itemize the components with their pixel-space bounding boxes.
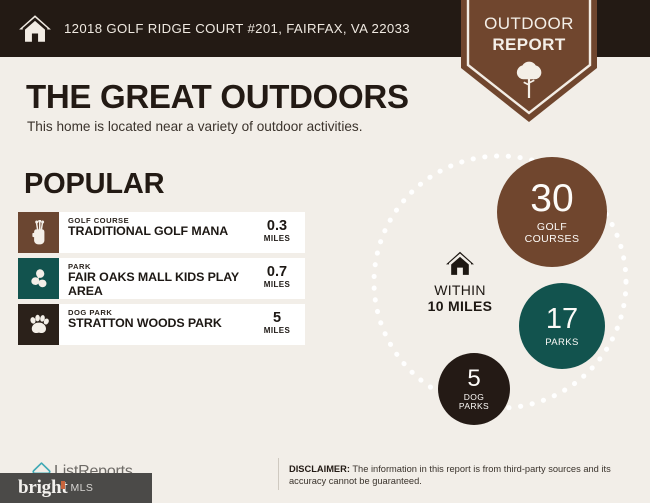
- list-item[interactable]: GOLF COURSE TRADITIONAL GOLF MANA 0.3 MI…: [18, 212, 305, 253]
- stat-label-line2: PARKS: [459, 402, 489, 412]
- stat-label-line1: PARKS: [545, 337, 579, 348]
- outdoor-report-badge: OUTDOOR REPORT: [461, 0, 597, 122]
- list-item-distance: 0.7 MILES: [249, 258, 305, 299]
- stat-value: 5: [467, 367, 480, 391]
- golf-bag-icon: [18, 212, 59, 253]
- list-item-name: STRATTON WOODS PARK: [68, 317, 243, 331]
- list-item-name: TRADITIONAL GOLF MANA: [68, 225, 243, 239]
- popular-heading: POPULAR: [24, 168, 164, 201]
- bright-wordmark: bright: [18, 477, 67, 499]
- popular-list: GOLF COURSE TRADITIONAL GOLF MANA 0.3 MI…: [18, 212, 305, 350]
- list-item-distance: 0.3 MILES: [249, 212, 305, 253]
- distance-unit: MILES: [249, 280, 305, 289]
- mls-wordmark: MLS: [70, 482, 93, 494]
- center-label-within: WITHIN: [405, 282, 515, 298]
- property-address: 12018 GOLF RIDGE COURT #201, FAIRFAX, VA…: [64, 21, 410, 36]
- distance-value: 5: [249, 311, 305, 326]
- list-item-body: GOLF COURSE TRADITIONAL GOLF MANA: [59, 212, 249, 253]
- distance-unit: MILES: [249, 326, 305, 335]
- page-subtitle: This home is located near a variety of o…: [27, 119, 362, 134]
- disclaimer: DISCLAIMER: The information in this repo…: [289, 463, 641, 487]
- badge-line2: REPORT: [461, 34, 597, 55]
- badge-line1: OUTDOOR: [484, 14, 574, 33]
- list-item-body: DOG PARK STRATTON WOODS PARK: [59, 304, 249, 345]
- bright-mls-logo[interactable]: bright MLS: [0, 473, 152, 503]
- bright-accent-mark: [61, 481, 65, 489]
- list-item-name: FAIR OAKS MALL KIDS PLAY AREA: [68, 271, 243, 298]
- stat-value: 17: [546, 305, 578, 334]
- stat-circle-parks: 17 PARKS: [519, 283, 605, 369]
- badge-text: OUTDOOR REPORT: [461, 13, 597, 55]
- home-icon: [0, 12, 52, 46]
- distance-value: 0.3: [249, 219, 305, 234]
- list-item-distance: 5 MILES: [249, 304, 305, 345]
- paw-print-icon: [18, 304, 59, 345]
- home-icon: [405, 250, 515, 277]
- center-label-radius: 10 MILES: [405, 298, 515, 314]
- distance-value: 0.7: [249, 265, 305, 280]
- footer-divider: [278, 458, 279, 490]
- stat-label-line1: GOLF: [537, 221, 567, 233]
- list-item-body: PARK FAIR OAKS MALL KIDS PLAY AREA: [59, 258, 249, 299]
- amenities-diagram: 30 GOLF COURSES 17 PARKS 5 DOG PARKS WIT…: [352, 140, 650, 430]
- stat-label-line2: COURSES: [525, 233, 580, 245]
- diagram-center-node: WITHIN 10 MILES: [405, 250, 515, 314]
- disclaimer-label: DISCLAIMER:: [289, 464, 350, 474]
- stat-value: 30: [530, 179, 573, 218]
- page-title: THE GREAT OUTDOORS: [26, 78, 409, 116]
- list-item[interactable]: PARK FAIR OAKS MALL KIDS PLAY AREA 0.7 M…: [18, 258, 305, 299]
- park-tree-icon: [18, 258, 59, 299]
- distance-unit: MILES: [249, 234, 305, 243]
- stat-circle-dog-parks: 5 DOG PARKS: [438, 353, 510, 425]
- list-item[interactable]: DOG PARK STRATTON WOODS PARK 5 MILES: [18, 304, 305, 345]
